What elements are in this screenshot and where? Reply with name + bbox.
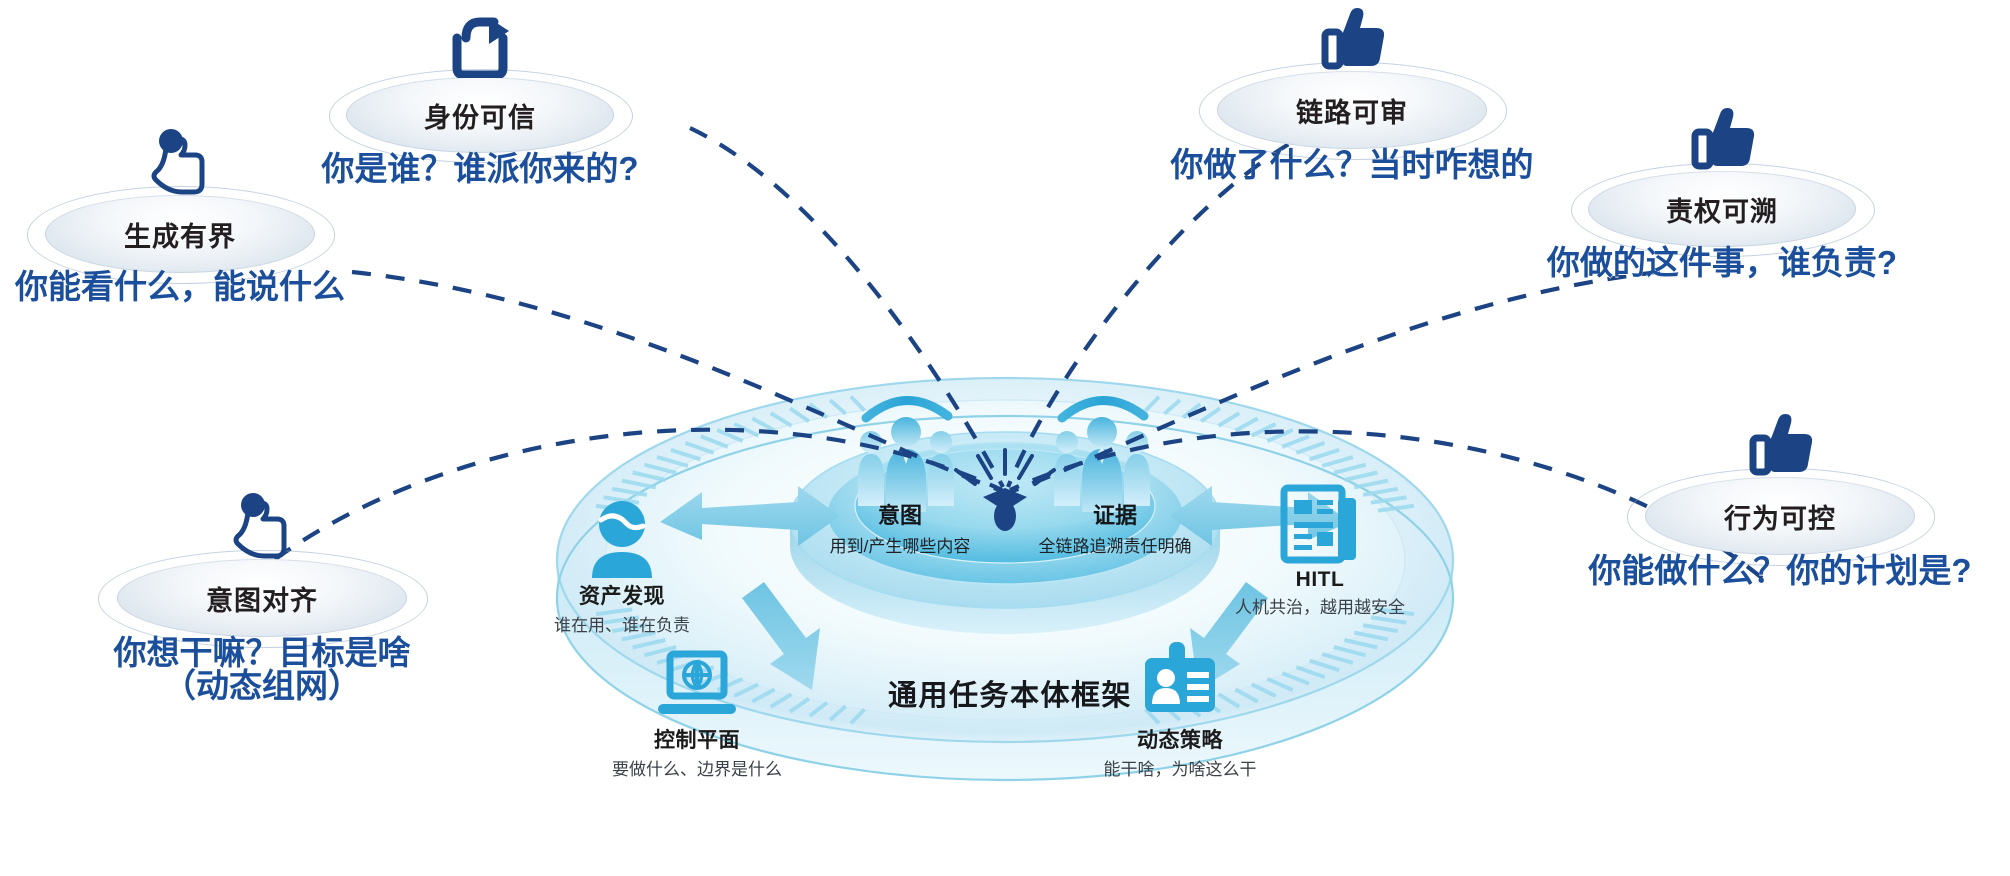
spoke-subtitle: 谁在用、谁在负责 <box>502 611 742 636</box>
spoke-subtitle: 人机共治，越用越安全 <box>1200 593 1440 618</box>
spoke-title: 资产发现 <box>502 580 742 610</box>
callout-bubble-shape: 链路可审 <box>1217 71 1487 149</box>
newspaper-icon <box>1200 484 1440 566</box>
spoke-title: HITL <box>1200 568 1440 592</box>
spoke-asset-discovery[interactable]: 资产发现 谁在用、谁在负责 <box>502 500 742 636</box>
thumbs-up-icon <box>1319 8 1385 77</box>
callout-subtitle: 你做了什么？当时咋想的 <box>1171 147 1534 184</box>
callout-bubble-shape: 意图对齐 <box>117 559 407 637</box>
callout-bubble-shape: 生成有界 <box>45 195 315 273</box>
spoke-title: 控制平面 <box>582 724 812 754</box>
person-icon <box>502 500 742 578</box>
core-evidence-subtitle: 全链路追溯责任明确 <box>1010 532 1220 557</box>
spoke-subtitle: 能干啥，为啥这么干 <box>1060 755 1300 780</box>
callout-subtitle: 你能看什么，能说什么 <box>15 269 345 306</box>
callout-subtitle: 你做的这件事，谁负责? <box>1547 245 1897 282</box>
spoke-hitl[interactable]: HITL 人机共治，越用越安全 <box>1200 484 1440 618</box>
person-silhouette <box>858 431 884 506</box>
callout-bubble-shape: 身份可信 <box>346 77 614 153</box>
callout-bubble-shape: 责权可溯 <box>1588 171 1856 247</box>
core-label-evidence: 证据 全链路追溯责任明确 <box>1010 498 1220 557</box>
core-intent-subtitle: 用到/产生哪些内容 <box>800 532 1000 557</box>
callout-title: 责权可溯 <box>1666 190 1778 229</box>
callout-title: 链路可审 <box>1296 91 1408 130</box>
hand-pointer-icon <box>148 128 212 201</box>
spoke-subtitle: 要做什么、边界是什么 <box>582 755 812 780</box>
callout-title: 身份可信 <box>424 96 536 135</box>
laptop-globe-icon <box>582 650 812 722</box>
share-export-icon <box>447 16 513 83</box>
core-label-intent: 意图 用到/产生哪些内容 <box>800 498 1000 557</box>
thumbs-up-icon <box>1747 414 1813 483</box>
callout-traceable-accountability[interactable]: 责权可溯 你做的这件事，谁负责? <box>1512 108 1932 282</box>
id-card-icon <box>1060 640 1300 722</box>
callout-intent-alignment[interactable]: 意图对齐 你想干嘛？目标是啥 （动态组网） <box>62 492 462 705</box>
diagram-canvas: 生成有界 你能看什么，能说什么 身份可信 你是谁？谁派你来的? 链路可审 你 <box>0 0 2010 876</box>
callout-controllable-behavior[interactable]: 行为可控 你能做什么？你的计划是? <box>1560 414 2000 590</box>
callout-subtitle-line2: （动态组网） <box>163 668 361 705</box>
core-intent-title: 意图 <box>800 498 1000 530</box>
callout-title: 行为可控 <box>1724 497 1836 536</box>
spoke-title: 动态策略 <box>1060 724 1300 754</box>
callout-title: 意图对齐 <box>206 579 318 618</box>
core-evidence-title: 证据 <box>1010 498 1220 530</box>
callout-title: 生成有界 <box>124 215 236 254</box>
hand-pointer-icon <box>230 492 294 565</box>
thumbs-up-icon <box>1689 108 1755 177</box>
spoke-control-plane[interactable]: 控制平面 要做什么、边界是什么 <box>582 650 812 780</box>
callout-auditable-chain[interactable]: 链路可审 你做了什么？当时咋想的 <box>1152 8 1552 184</box>
callout-subtitle: 你是谁？谁派你来的? <box>321 151 638 188</box>
spoke-dynamic-policy[interactable]: 动态策略 能干啥，为啥这么干 <box>1060 640 1300 780</box>
callout-bubble-shape: 行为可控 <box>1645 477 1915 555</box>
callout-trusted-identity[interactable]: 身份可信 你是谁？谁派你来的? <box>280 16 680 188</box>
callout-subtitle: 你能做什么？你的计划是? <box>1588 553 1971 590</box>
